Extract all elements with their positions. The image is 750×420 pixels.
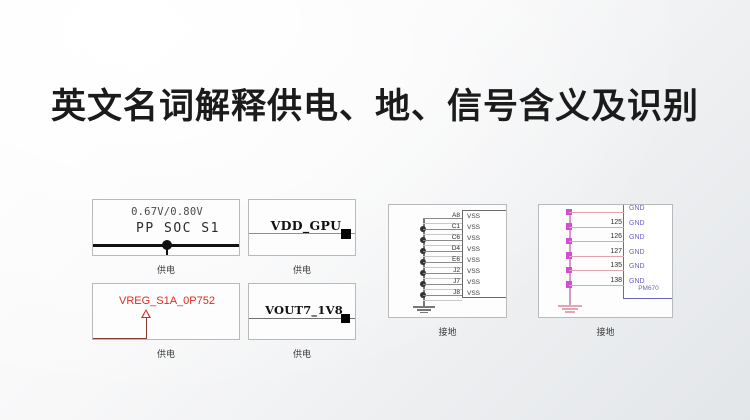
pin-wire bbox=[569, 227, 624, 228]
pin-name: VSS bbox=[467, 246, 480, 253]
pin-separator bbox=[423, 300, 462, 301]
net-name-label: PP SOC S1 bbox=[93, 221, 240, 236]
card-vout7-1v8: VOUT7_1V8 bbox=[248, 283, 356, 340]
card-caption-power-1: 供电 bbox=[92, 263, 240, 276]
card-caption-power-3: 供电 bbox=[92, 347, 240, 360]
voltage-label: 0.67V/0.80V bbox=[93, 206, 240, 218]
ground-symbol-icon bbox=[565, 311, 575, 313]
pin-name: VSS bbox=[467, 268, 480, 275]
pin-designator: D4 bbox=[425, 245, 460, 252]
ground-symbol-icon bbox=[413, 306, 435, 308]
pin-designator: J7 bbox=[425, 278, 460, 285]
net-name-label: VREG_S1A_0P752 bbox=[93, 295, 240, 307]
ground-symbol-icon bbox=[558, 305, 582, 307]
pin-name: GND bbox=[629, 249, 645, 256]
chip-label: PM670 bbox=[623, 285, 673, 292]
card-pp-soc-s1: 0.67V/0.80V PP SOC S1 bbox=[92, 199, 240, 256]
pin-designator: 138 bbox=[577, 277, 622, 284]
horizontal-wire bbox=[93, 338, 147, 339]
pin-designator: 127 bbox=[577, 248, 622, 255]
pin-name: VSS bbox=[467, 213, 480, 220]
card-pm670-gnd: PM670 GND125GND126GND127GND135GND138GND bbox=[538, 204, 673, 318]
pin-wire bbox=[569, 270, 624, 271]
slide-canvas: 英文名词解释供电、地、信号含义及识别 0.67V/0.80V PP SOC S1… bbox=[0, 0, 750, 420]
card-vdd-gpu: VDD_GPU bbox=[248, 199, 356, 256]
pin-wire bbox=[569, 241, 624, 242]
signal-wire bbox=[249, 233, 356, 234]
pin-name: VSS bbox=[467, 224, 480, 231]
test-pad-icon bbox=[341, 314, 350, 323]
pin-wire bbox=[569, 285, 624, 286]
test-pad-icon bbox=[341, 229, 351, 239]
card-caption-power-4: 供电 bbox=[248, 347, 356, 360]
power-flag-triangle-icon bbox=[141, 309, 151, 318]
ground-symbol-icon bbox=[420, 312, 428, 313]
pin-name: GND bbox=[629, 220, 645, 227]
pin-designator: A8 bbox=[425, 212, 460, 219]
pin-name: GND bbox=[629, 234, 645, 241]
pin-name: GND bbox=[629, 205, 645, 212]
card-caption-power-2: 供电 bbox=[248, 263, 356, 276]
ground-symbol-icon bbox=[417, 309, 431, 311]
card-vss-pins: A8VSSC1VSSC6VSSD4VSSE6VSSJ2VSSJ7VSSJ8VSS bbox=[388, 204, 507, 318]
pin-name: VSS bbox=[467, 257, 480, 264]
net-name-label: VDD_GPU bbox=[249, 218, 356, 233]
pin-name: VSS bbox=[467, 235, 480, 242]
card-vreg-s1a: VREG_S1A_0P752 bbox=[92, 283, 240, 340]
pin-designator: C6 bbox=[425, 234, 460, 241]
ground-stem bbox=[569, 297, 571, 305]
pin-designator: J2 bbox=[425, 267, 460, 274]
pin-designator: 135 bbox=[577, 262, 622, 269]
pin-designator: J8 bbox=[425, 289, 460, 296]
card-caption-ground-2: 接地 bbox=[538, 325, 673, 338]
card-caption-ground-1: 接地 bbox=[388, 325, 507, 338]
signal-wire bbox=[249, 318, 356, 319]
junction-dot-icon bbox=[162, 240, 172, 250]
net-name-label: VOUT7_1V8 bbox=[249, 303, 356, 317]
pin-wire bbox=[569, 256, 624, 257]
vertical-wire bbox=[146, 317, 147, 339]
ground-stem bbox=[423, 297, 425, 306]
pin-designator: C1 bbox=[425, 223, 460, 230]
pin-designator: 126 bbox=[577, 233, 622, 240]
pin-designator: 125 bbox=[577, 219, 622, 226]
pin-name: VSS bbox=[467, 290, 480, 297]
pin-name: VSS bbox=[467, 279, 480, 286]
page-title: 英文名词解释供电、地、信号含义及识别 bbox=[0, 78, 750, 129]
pin-name: GND bbox=[629, 278, 645, 285]
pin-wire bbox=[569, 212, 624, 213]
pin-name: GND bbox=[629, 263, 645, 270]
ground-symbol-icon bbox=[562, 308, 578, 310]
pin-designator: E6 bbox=[425, 256, 460, 263]
